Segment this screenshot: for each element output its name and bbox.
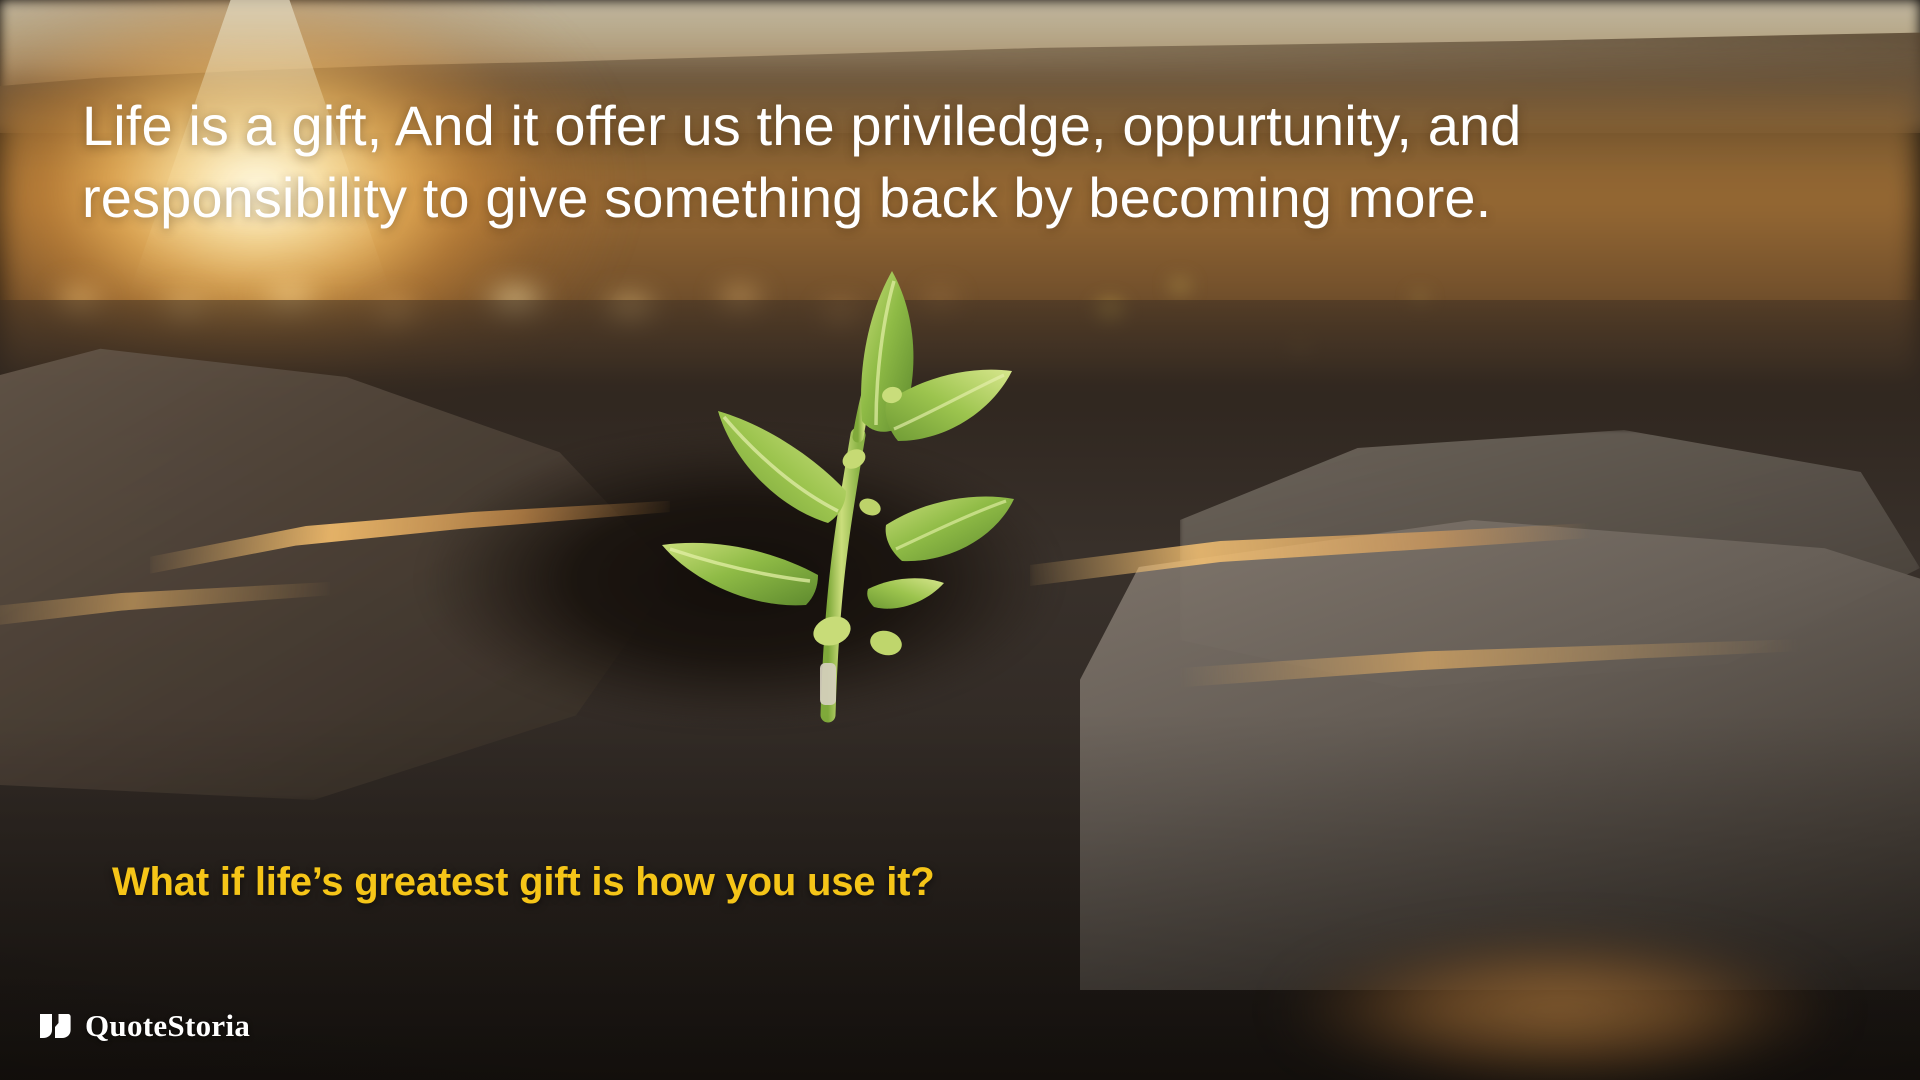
quote-card: Life is a gift, And it offer us the priv… xyxy=(0,0,1920,1080)
brand-name: QuoteStoria xyxy=(85,1008,250,1044)
hook-question-text: What if life’s greatest gift is how you … xyxy=(112,860,935,905)
quote-text: Life is a gift, And it offer us the priv… xyxy=(82,90,1842,233)
quotation-mark-icon xyxy=(38,1010,72,1042)
brand-logo[interactable]: QuoteStoria xyxy=(38,1008,250,1044)
